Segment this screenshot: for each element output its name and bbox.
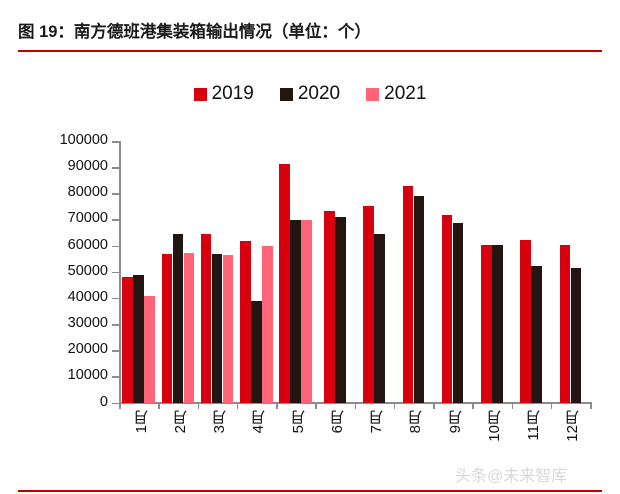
x-axis-tick-label: 11月 (523, 410, 544, 441)
y-axis-tick-label: 90000 (22, 158, 108, 174)
y-axis-line (119, 141, 121, 403)
y-axis-tick-label: 70000 (22, 210, 108, 226)
bar-2020-4月 (251, 301, 262, 403)
bar-2020-9月 (453, 223, 464, 403)
x-axis-tick (119, 402, 121, 409)
x-axis-tick-label: 5月 (288, 410, 309, 433)
bar-2019-9月 (442, 215, 453, 403)
x-axis-tick-label: 9月 (445, 410, 466, 433)
bar-2019-2月 (162, 254, 173, 403)
x-axis-tick (276, 402, 278, 409)
x-axis-tick (158, 402, 160, 409)
x-axis-tick-label: 7月 (366, 410, 387, 433)
bar-2020-3月 (212, 254, 223, 403)
x-axis-tick-label: 6月 (327, 410, 348, 433)
x-axis-tick (433, 402, 435, 409)
x-axis-tick (315, 402, 317, 409)
y-axis-tick-label: 80000 (22, 184, 108, 200)
y-axis-tick-label: 40000 (22, 289, 108, 305)
bar-2020-5月 (290, 220, 301, 403)
y-axis-tick (112, 298, 119, 300)
x-axis-tick-label: 3月 (209, 410, 230, 433)
x-axis-tick-label: 8月 (405, 410, 426, 433)
bar-2021-1月 (144, 296, 155, 403)
x-axis-tick (355, 402, 357, 409)
x-axis-tick (237, 402, 239, 409)
x-axis-tick-label: 4月 (248, 410, 269, 433)
y-axis-tick-label: 100000 (22, 132, 108, 148)
bar-2021-2月 (184, 253, 195, 403)
bar-2019-8月 (403, 186, 414, 403)
bar-2021-4月 (262, 246, 273, 403)
bar-2019-10月 (481, 245, 492, 403)
y-axis-tick-label: 30000 (22, 315, 108, 331)
bar-2020-10月 (492, 245, 503, 403)
x-axis-tick-label: 2月 (170, 410, 191, 433)
bar-2019-4月 (240, 241, 251, 403)
y-axis-tick (112, 167, 119, 169)
y-axis-tick-label: 20000 (22, 341, 108, 357)
x-axis-tick-label: 10月 (484, 410, 505, 442)
y-axis-tick-label: 60000 (22, 237, 108, 253)
y-axis-tick (112, 350, 119, 352)
x-axis-tick (198, 402, 200, 409)
y-axis-tick-label: 10000 (22, 367, 108, 383)
x-axis-tick (472, 402, 474, 409)
x-axis-tick (551, 402, 553, 409)
x-axis-tick (394, 402, 396, 409)
chart-plot-area: 1000009000080000700006000050000400003000… (0, 0, 620, 494)
y-axis-tick (112, 403, 119, 405)
y-axis-tick (112, 193, 119, 195)
watermark: 头条@未来智库 (455, 462, 567, 486)
bar-2019-6月 (324, 211, 335, 403)
bar-2020-6月 (335, 217, 346, 403)
y-axis-tick (112, 376, 119, 378)
y-axis-tick (112, 324, 119, 326)
x-axis-tick (512, 402, 514, 409)
bar-2020-2月 (173, 234, 184, 403)
bar-2020-12月 (571, 268, 582, 403)
bar-2019-11月 (520, 240, 531, 403)
bar-2019-12月 (560, 245, 571, 403)
bar-2019-3月 (201, 234, 212, 403)
bar-2021-5月 (301, 220, 312, 403)
bar-2019-7月 (363, 206, 374, 403)
bar-2020-11月 (531, 266, 542, 403)
bottom-divider (18, 490, 602, 492)
bar-2020-1月 (133, 275, 144, 403)
y-axis-tick-label: 50000 (22, 263, 108, 279)
y-axis-tick (112, 272, 119, 274)
y-axis-tick (112, 246, 119, 248)
x-axis-tick-label: 12月 (562, 410, 583, 442)
x-axis-tick-label: 1月 (131, 410, 152, 433)
bar-2019-1月 (122, 277, 133, 403)
y-axis-tick (112, 141, 119, 143)
bar-2019-5月 (279, 164, 290, 403)
y-axis-tick (112, 219, 119, 221)
bar-2020-7月 (374, 234, 385, 403)
bar-2020-8月 (414, 196, 425, 403)
y-axis-tick-label: 0 (22, 394, 108, 410)
bar-2021-3月 (223, 255, 234, 403)
x-axis-tick (590, 402, 592, 409)
